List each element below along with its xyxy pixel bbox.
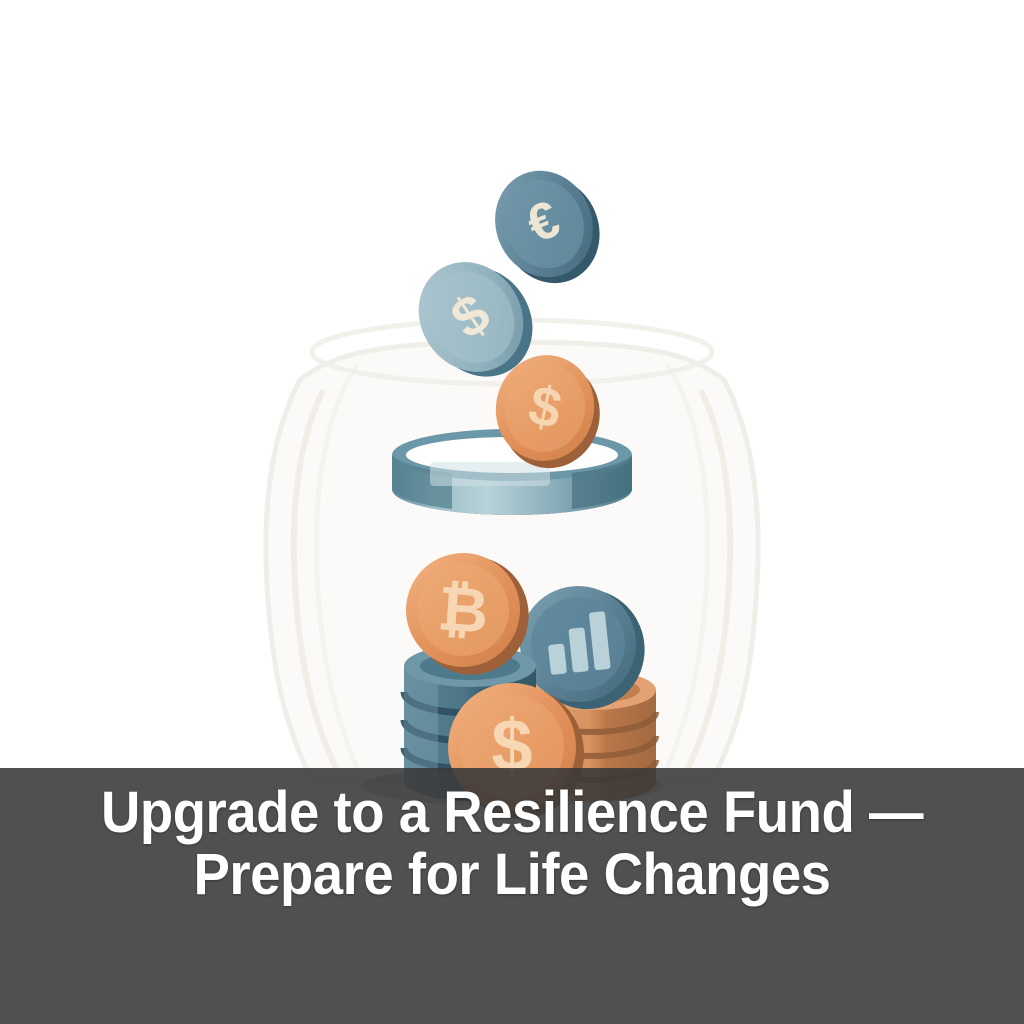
caption-band: Upgrade to a Resilience Fund — Prepare f… (0, 768, 1024, 1024)
caption-line-2: Prepare for Life Changes (61, 844, 963, 906)
svg-text:₿: ₿ (435, 574, 490, 646)
promo-card: € $ $ (0, 0, 1024, 1024)
caption-line-1: Upgrade to a Resilience Fund — (61, 782, 963, 844)
caption-heading: Upgrade to a Resilience Fund — Prepare f… (61, 782, 963, 906)
